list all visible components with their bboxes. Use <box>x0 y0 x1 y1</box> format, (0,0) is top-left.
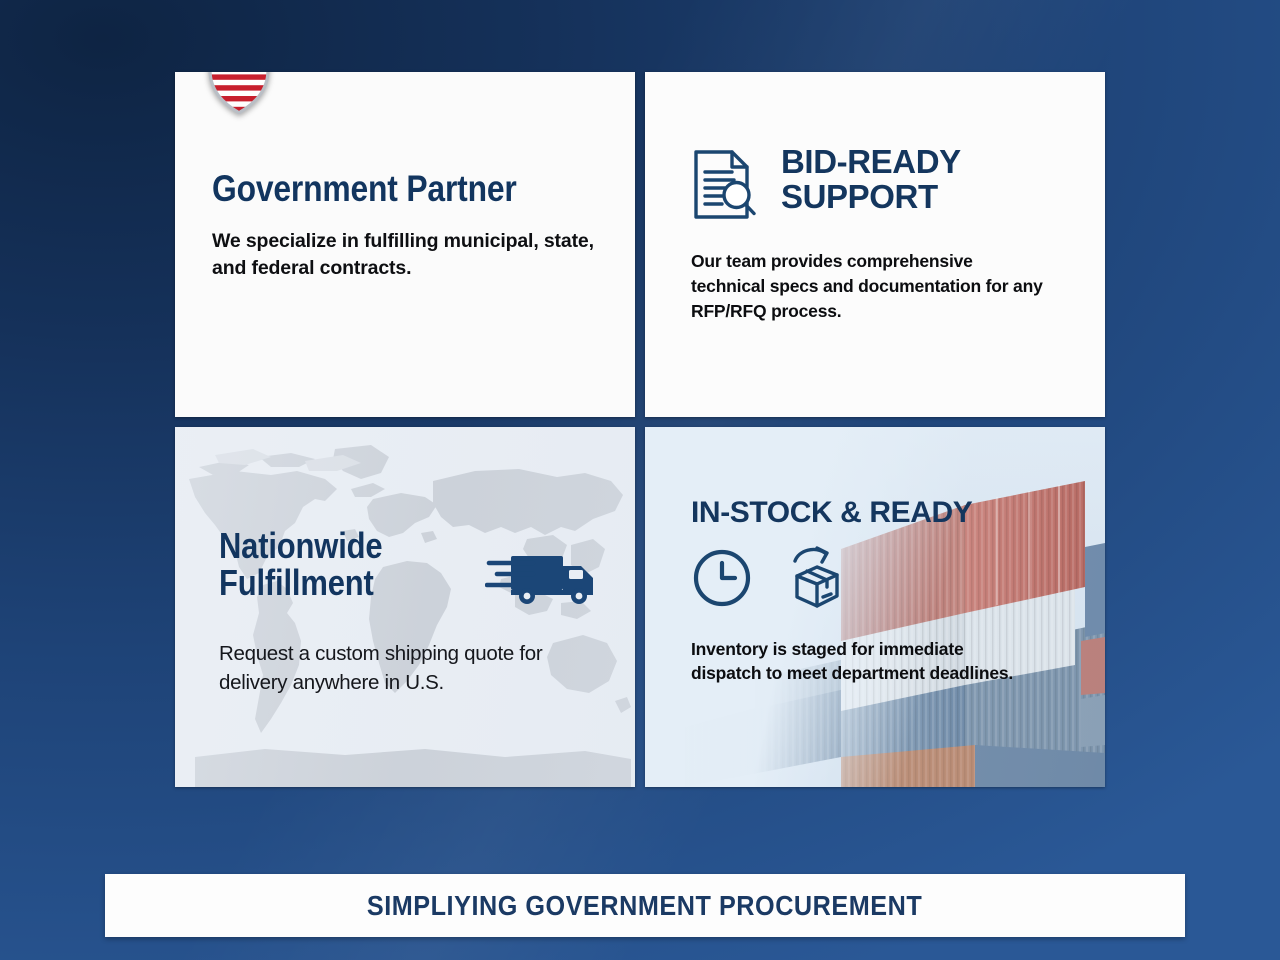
card-body-text: We specialize in fulfilling municipal, s… <box>212 228 595 281</box>
card-nationwide-fulfillment[interactable]: Nationwide Fulfillment Request a custom … <box>175 427 635 787</box>
card-government-partner[interactable]: Government Partner We specialize in fulf… <box>175 72 635 417</box>
delivery-truck-icon <box>485 550 597 608</box>
card-title-line-1: Nationwide <box>219 525 382 566</box>
card-body-text: Our team provides comprehensive technica… <box>691 249 1051 324</box>
feature-card-grid: Government Partner We specialize in fulf… <box>175 72 1105 787</box>
card-bid-ready-support[interactable]: BID-READY SUPPORT Our team provides comp… <box>645 72 1105 417</box>
banner-text: SIMPLIYING GOVERNMENT PROCUREMENT <box>367 890 922 922</box>
card-in-stock-ready[interactable]: IN-STOCK & READY <box>645 427 1105 787</box>
card-title-line-2: Fulfillment <box>219 562 374 603</box>
bottom-banner: SIMPLIYING GOVERNMENT PROCUREMENT <box>105 874 1185 937</box>
card-body-text: Inventory is staged for immediate dispat… <box>691 637 1021 687</box>
card-title: IN-STOCK & READY <box>691 497 1075 529</box>
card-body-text: Request a custom shipping quote for deli… <box>219 640 601 697</box>
card-title-line-1: BID-READY <box>781 143 961 180</box>
document-magnifier-icon <box>691 148 759 222</box>
us-flag-shield-icon <box>208 72 270 114</box>
card-title-line-2: SUPPORT <box>781 178 938 215</box>
clock-icon <box>691 547 753 609</box>
card-title: BID-READY SUPPORT <box>781 144 961 215</box>
box-refresh-icon <box>781 545 853 611</box>
card-icon-row <box>691 545 1075 611</box>
card-header-row: BID-READY SUPPORT <box>691 144 1065 222</box>
card-title: Government Partner <box>212 170 541 207</box>
